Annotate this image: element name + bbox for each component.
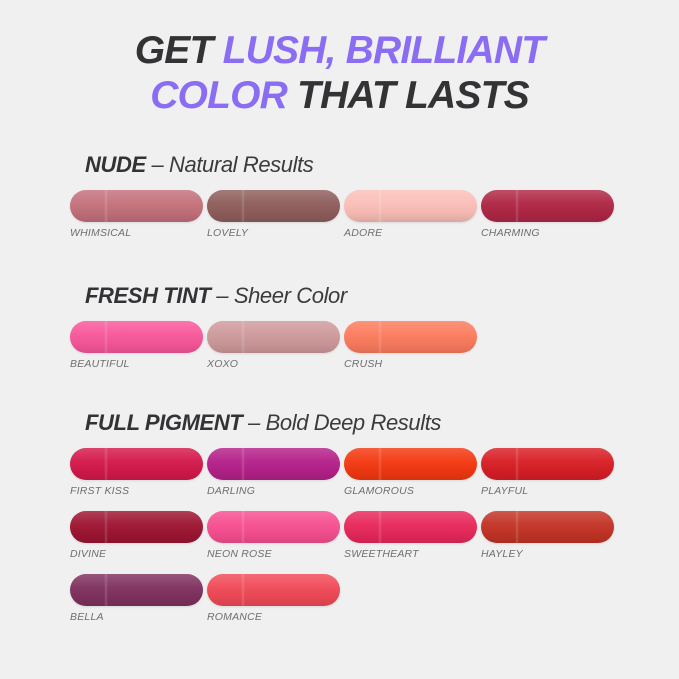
swatch-cell[interactable]: GLAMOROUS (344, 448, 479, 497)
section-separator: – (211, 283, 234, 308)
swatch-label: NEON ROSE (207, 548, 342, 560)
section-fresh-tint: FRESH TINT – Sheer Color BEAUTIFUL XOXO … (70, 283, 630, 384)
headline-accent-1: LUSH, BRILLIANT (223, 29, 545, 72)
section-description-label: Bold Deep Results (266, 410, 441, 435)
swatch-label: BELLA (70, 611, 205, 623)
color-swatch-crush[interactable] (344, 321, 477, 353)
swatch-cell[interactable]: HAYLEY (481, 511, 616, 560)
color-swatch-sweetheart[interactable] (344, 511, 477, 543)
section-heading-nude: NUDE – Natural Results (85, 152, 630, 178)
headline-line-1: GET LUSH, BRILLIANT (0, 28, 679, 73)
swatch-row: FIRST KISS DARLING GLAMOROUS PLAYFUL (70, 448, 630, 497)
swatch-label: LOVELY (207, 227, 342, 239)
section-category-label: FRESH TINT (85, 283, 211, 308)
swatch-cell[interactable]: ADORE (344, 190, 479, 239)
section-full-pigment: FULL PIGMENT – Bold Deep Results FIRST K… (70, 410, 630, 637)
swatch-label: DARLING (207, 485, 342, 497)
headline-get-text: GET (135, 29, 223, 72)
swatch-cell[interactable]: NEON ROSE (207, 511, 342, 560)
headline-that-lasts-text: THAT LASTS (287, 74, 529, 117)
section-category-label: NUDE (85, 152, 146, 177)
section-separator: – (146, 152, 169, 177)
swatch-label: CRUSH (344, 358, 479, 370)
color-swatch-darling[interactable] (207, 448, 340, 480)
color-swatch-adore[interactable] (344, 190, 477, 222)
section-separator: – (242, 410, 265, 435)
swatch-label: DIVINE (70, 548, 205, 560)
swatch-label: HAYLEY (481, 548, 616, 560)
color-swatch-beautiful[interactable] (70, 321, 203, 353)
color-swatch-first-kiss[interactable] (70, 448, 203, 480)
swatch-label: CHARMING (481, 227, 616, 239)
color-swatch-divine[interactable] (70, 511, 203, 543)
swatch-label: GLAMOROUS (344, 485, 479, 497)
swatch-label: PLAYFUL (481, 485, 616, 497)
section-nude: NUDE – Natural Results WHIMSICAL LOVELY … (70, 152, 630, 253)
swatch-cell[interactable]: DIVINE (70, 511, 205, 560)
color-swatch-whimsical[interactable] (70, 190, 203, 222)
color-swatch-charming[interactable] (481, 190, 614, 222)
swatch-row: WHIMSICAL LOVELY ADORE CHARMING (70, 190, 630, 239)
section-heading-full-pigment: FULL PIGMENT – Bold Deep Results (85, 410, 630, 436)
swatch-cell[interactable]: WHIMSICAL (70, 190, 205, 239)
section-category-label: FULL PIGMENT (85, 410, 242, 435)
section-description-label: Sheer Color (234, 283, 347, 308)
color-swatch-glamorous[interactable] (344, 448, 477, 480)
swatch-label: BEAUTIFUL (70, 358, 205, 370)
color-swatch-playful[interactable] (481, 448, 614, 480)
swatch-cell[interactable]: ROMANCE (207, 574, 342, 623)
lipstick-shade-chart: GET LUSH, BRILLIANT COLOR THAT LASTS NUD… (0, 0, 679, 679)
swatch-cell[interactable]: SWEETHEART (344, 511, 479, 560)
color-swatch-lovely[interactable] (207, 190, 340, 222)
swatch-label: ADORE (344, 227, 479, 239)
swatch-label: SWEETHEART (344, 548, 479, 560)
swatch-cell[interactable]: CRUSH (344, 321, 479, 370)
swatch-cell[interactable]: LOVELY (207, 190, 342, 239)
headline-accent-2: COLOR (150, 74, 287, 117)
swatch-row: BELLA ROMANCE (70, 574, 630, 623)
headline-line-2: COLOR THAT LASTS (0, 73, 679, 118)
swatch-row: BEAUTIFUL XOXO CRUSH (70, 321, 630, 370)
swatch-cell[interactable]: BEAUTIFUL (70, 321, 205, 370)
swatch-label: FIRST KISS (70, 485, 205, 497)
section-heading-fresh-tint: FRESH TINT – Sheer Color (85, 283, 630, 309)
swatch-label: WHIMSICAL (70, 227, 205, 239)
swatch-row: DIVINE NEON ROSE SWEETHEART HAYLEY (70, 511, 630, 560)
swatch-cell[interactable]: DARLING (207, 448, 342, 497)
swatch-cell[interactable]: CHARMING (481, 190, 616, 239)
swatch-cell[interactable]: BELLA (70, 574, 205, 623)
swatch-label: ROMANCE (207, 611, 342, 623)
swatch-cell[interactable]: XOXO (207, 321, 342, 370)
color-swatch-bella[interactable] (70, 574, 203, 606)
section-description-label: Natural Results (169, 152, 313, 177)
swatch-cell[interactable]: FIRST KISS (70, 448, 205, 497)
color-swatch-neon-rose[interactable] (207, 511, 340, 543)
color-swatch-xoxo[interactable] (207, 321, 340, 353)
color-swatch-hayley[interactable] (481, 511, 614, 543)
swatch-label: XOXO (207, 358, 342, 370)
swatch-cell[interactable]: PLAYFUL (481, 448, 616, 497)
color-swatch-romance[interactable] (207, 574, 340, 606)
page-title: GET LUSH, BRILLIANT COLOR THAT LASTS (0, 28, 679, 118)
